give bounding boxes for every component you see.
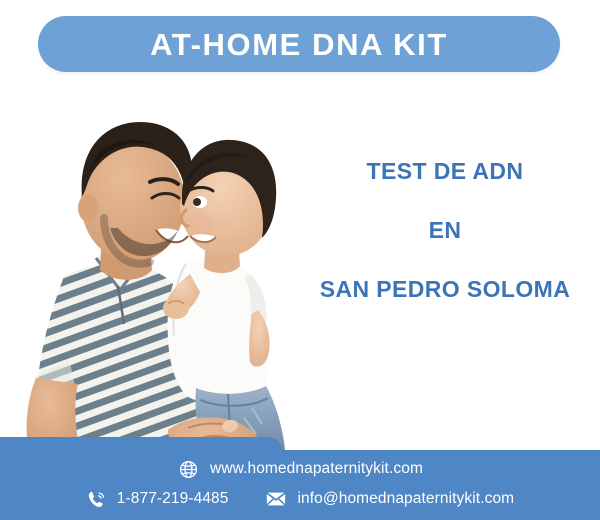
phone-icon bbox=[86, 488, 108, 510]
footer-contact-bar: www.homednapaternitykit.com 1-877-219-44… bbox=[0, 450, 600, 520]
envelope-icon bbox=[265, 488, 287, 510]
footer-item-email[interactable]: info@homednapaternitykit.com bbox=[265, 488, 515, 510]
footer-item-phone[interactable]: 1-877-219-4485 bbox=[86, 488, 229, 510]
headline-line-1: TEST DE ADN bbox=[300, 160, 590, 183]
headline-line-2: EN bbox=[300, 219, 590, 242]
father-and-child-photo bbox=[0, 78, 330, 460]
footer-website-label: www.homednapaternitykit.com bbox=[210, 461, 423, 477]
footer-contact-row: 1-877-219-4485 info@homednapaternitykit.… bbox=[0, 488, 600, 510]
globe-icon bbox=[177, 458, 199, 480]
headline-line-3: SAN PEDRO SOLOMA bbox=[300, 278, 590, 301]
poster-canvas: AT-HOME DNA KIT bbox=[0, 0, 600, 520]
footer-email-label: info@homednapaternitykit.com bbox=[298, 491, 515, 507]
footer-item-website[interactable]: www.homednapaternitykit.com bbox=[177, 458, 423, 480]
footer-phone-label: 1-877-219-4485 bbox=[117, 491, 229, 507]
footer-website-row: www.homednapaternitykit.com bbox=[0, 458, 600, 480]
title-banner-text: AT-HOME DNA KIT bbox=[150, 29, 448, 60]
headline-block: TEST DE ADN EN SAN PEDRO SOLOMA bbox=[300, 160, 590, 301]
title-banner: AT-HOME DNA KIT bbox=[38, 16, 560, 72]
